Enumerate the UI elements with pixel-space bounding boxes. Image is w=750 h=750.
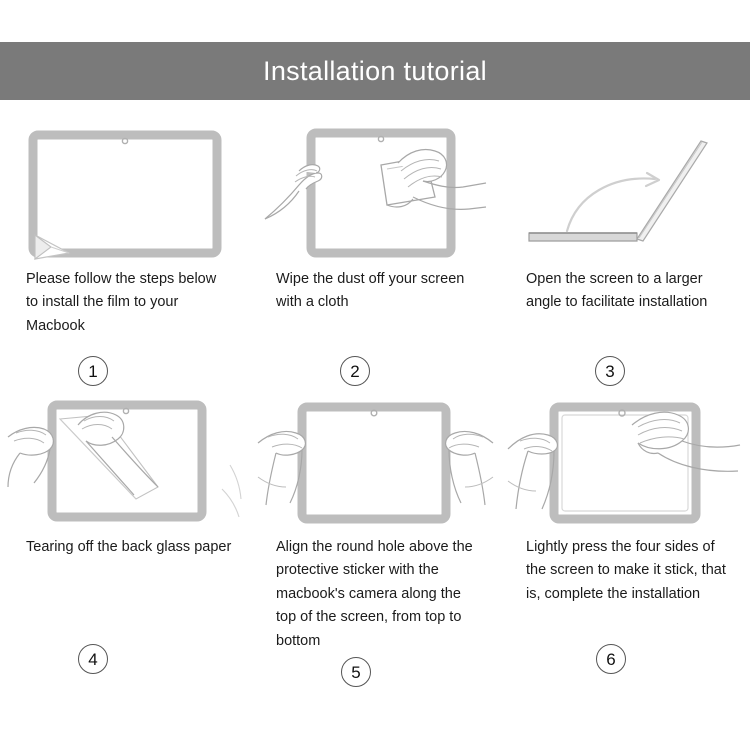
illustration-hands-wiping-screen-with-cloth xyxy=(260,118,490,268)
step-badge-wrap-1: 1 xyxy=(10,356,240,386)
step-number-badge-5: 5 xyxy=(341,657,371,687)
step-caption-4: Tearing off the back glass paper xyxy=(10,536,240,640)
step-badge-wrap-2: 2 xyxy=(260,356,490,386)
step-caption-5: Align the round hole above the protectiv… xyxy=(260,536,490,653)
step-number-badge-2: 2 xyxy=(340,356,370,386)
step-badge-wrap-4: 4 xyxy=(10,644,240,674)
step-number-badge-4: 4 xyxy=(78,644,108,674)
step-card-4: Tearing off the back glass paper 4 xyxy=(0,386,250,687)
step-card-6: Lightly press the four sides of the scre… xyxy=(500,386,750,687)
step-card-2: Wipe the dust off your screen with a clo… xyxy=(250,118,500,386)
step-number-badge-3: 3 xyxy=(595,356,625,386)
step-number-badge-1: 1 xyxy=(78,356,108,386)
illustration-hands-peeling-back-paper-from-screen xyxy=(10,386,240,536)
illustration-hands-pressing-film-edges-on-screen xyxy=(510,386,740,536)
page-title: Installation tutorial xyxy=(263,58,487,85)
illustration-laptop-side-view-opening-angle-arrow xyxy=(510,118,740,268)
step-card-3: Open the screen to a larger angle to fac… xyxy=(500,118,750,386)
illustration-laptop-screen-with-peeling-film-corner xyxy=(10,118,240,268)
step-caption-2: Wipe the dust off your screen with a clo… xyxy=(260,268,490,354)
step-card-5: Align the round hole above the protectiv… xyxy=(250,386,500,687)
step-badge-wrap-3: 3 xyxy=(510,356,740,386)
step-caption-6: Lightly press the four sides of the scre… xyxy=(510,536,740,640)
illustration-two-hands-aligning-film-on-screen xyxy=(260,386,490,536)
step-caption-1: Please follow the steps below to install… xyxy=(10,268,240,354)
step-badge-wrap-6: 6 xyxy=(510,644,740,674)
step-card-1: Please follow the steps below to install… xyxy=(0,118,250,386)
header-banner: Installation tutorial xyxy=(0,42,750,100)
step-number-badge-6: 6 xyxy=(596,644,626,674)
steps-grid: Please follow the steps below to install… xyxy=(0,118,750,687)
step-caption-3: Open the screen to a larger angle to fac… xyxy=(510,268,740,354)
step-badge-wrap-5: 5 xyxy=(260,657,490,687)
